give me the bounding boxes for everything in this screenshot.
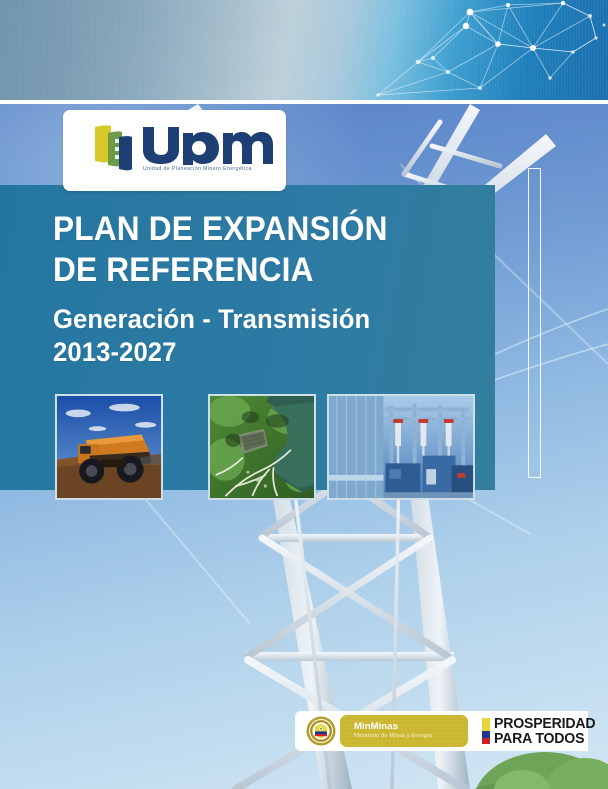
page-subtitle: Generación - Transmisión 2013-2027 (53, 303, 452, 369)
minminas-brand-pill: MinMinas Ministerio de Minas y Energía (340, 715, 468, 747)
minminas-name: MinMinas (354, 721, 398, 732)
prosperidad-line-1: PROSPERIDAD (494, 716, 595, 731)
title-line-1: PLAN DE EXPANSIÓN (53, 209, 444, 250)
minminas-full-name: Ministerio de Minas y Energía (354, 733, 432, 739)
colombia-coat-of-arms-seal (306, 716, 336, 746)
page-title: PLAN DE EXPANSIÓN DE REFERENCIA (53, 209, 444, 291)
vertical-accent-rectangle (528, 168, 541, 478)
colombia-flag-bar-icon (482, 718, 490, 744)
hydro-reservoir-aerial-photo (208, 394, 316, 500)
upme-wordmark (141, 119, 281, 165)
prosperidad-para-todos-brand: PROSPERIDAD PARA TODOS (494, 716, 595, 746)
network-nodes-graphic (358, 0, 608, 100)
subtitle-line-2: 2013-2027 (53, 336, 452, 369)
title-line-2: DE REFERENCIA (53, 250, 444, 291)
upme-tagline: Unidad de Planeación Minero Energética (143, 166, 252, 172)
footer-logo-bar: MinMinas Ministerio de Minas y Energía P… (295, 711, 588, 751)
upme-logo-mark-icon (91, 121, 139, 173)
header-band (0, 0, 608, 100)
electrical-substation-photo (327, 394, 475, 500)
subtitle-line-1: Generación - Transmisión (53, 303, 452, 336)
upme-logo-box: Unidad de Planeación Minero Energética (63, 110, 286, 191)
document-cover: Unidad de Planeación Minero Energética P… (0, 0, 608, 789)
prosperidad-line-2: PARA TODOS (494, 731, 595, 746)
mining-truck-photo (55, 394, 163, 500)
